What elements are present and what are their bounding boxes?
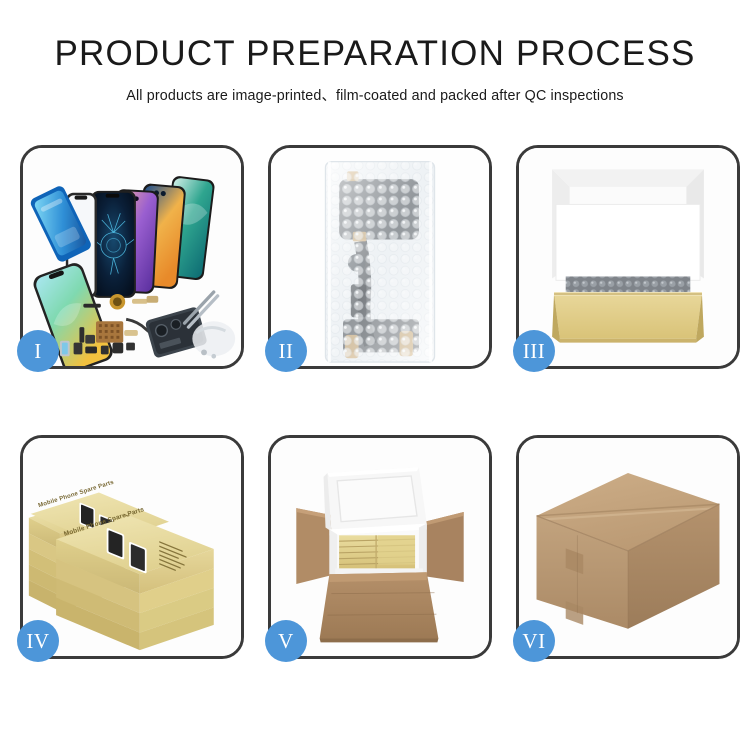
step-badge-3: III (513, 330, 555, 372)
process-step-grid: I (20, 145, 740, 693)
process-step-panel-6: VI (516, 435, 740, 659)
photo-open-kraft-box-with-foam (519, 148, 737, 366)
step-badge-6: VI (513, 620, 555, 662)
process-step-panel-3: III (516, 145, 740, 369)
photo-stacked-spare-parts-boxes: Mobile Phone Spare Parts (23, 438, 241, 656)
step-badge-5: V (265, 620, 307, 662)
process-step-panel-4: Mobile Phone Spare Parts (20, 435, 244, 659)
page-header: PRODUCT PREPARATION PROCESS All products… (0, 0, 750, 105)
step-badge-4: IV (17, 620, 59, 662)
photo-part-in-bubble-wrap (271, 148, 489, 366)
photo-phone-screens-and-spare-parts (23, 148, 241, 366)
process-step-panel-1: I (20, 145, 244, 369)
step-badge-2: II (265, 330, 307, 372)
process-step-panel-2: II (268, 145, 492, 369)
step-badge-1: I (17, 330, 59, 372)
page-subtitle: All products are image-printed、film-coat… (0, 84, 750, 105)
photo-carton-with-foam-cooler (271, 438, 489, 656)
photo-sealed-shipping-carton (519, 438, 737, 656)
page-title: PRODUCT PREPARATION PROCESS (0, 36, 750, 73)
process-step-panel-5: V (268, 435, 492, 659)
